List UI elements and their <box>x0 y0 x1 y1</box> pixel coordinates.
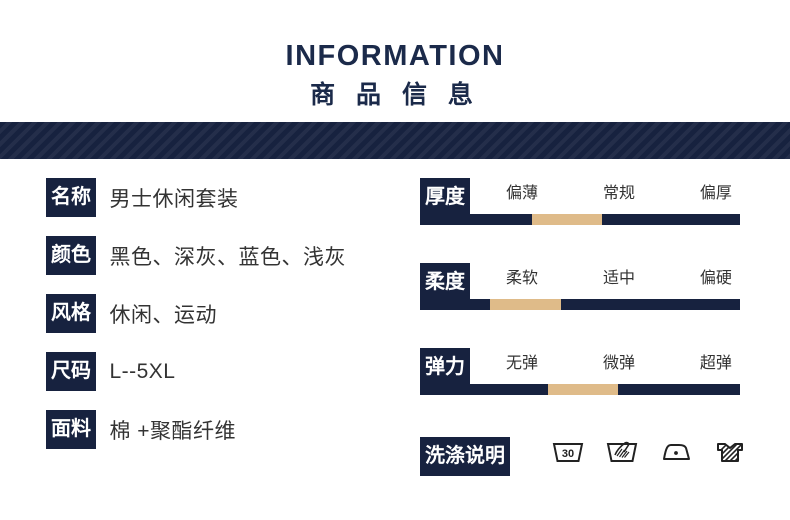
info-label-fabric: 面料 <box>46 410 96 449</box>
info-label-name: 名称 <box>46 178 96 217</box>
page-title-english: INFORMATION <box>0 40 790 72</box>
wash-care-row: 洗涤说明 30 <box>420 437 750 483</box>
info-value-style: 休闲、运动 <box>109 299 217 329</box>
scale-tick: 偏硬 <box>700 267 732 291</box>
scale-label-softness: 柔度 <box>420 263 470 302</box>
striped-divider-banner <box>0 122 790 159</box>
wash-tub-30-icon: 30 <box>552 439 584 465</box>
scale-bar-fill <box>548 384 618 395</box>
list-item: 颜色 黑色、深灰、蓝色、浅灰 <box>46 236 406 294</box>
scale-label-elasticity: 弹力 <box>420 348 470 387</box>
scale-ticks-elasticity: 无弹 微弹 超弹 <box>488 352 750 380</box>
wash-care-label: 洗涤说明 <box>420 437 510 476</box>
product-info-list: 名称 男士休闲套装 颜色 黑色、深灰、蓝色、浅灰 风格 休闲、运动 尺码 L--… <box>46 178 406 468</box>
list-item: 名称 男士休闲套装 <box>46 178 406 236</box>
scale-bar-thickness <box>420 214 740 225</box>
scale-ticks-softness: 柔软 适中 偏硬 <box>488 267 750 295</box>
scale-row-thickness: 厚度 偏薄 常规 偏厚 <box>420 178 750 263</box>
list-item: 风格 休闲、运动 <box>46 294 406 352</box>
iron-low-heat-icon <box>660 439 692 465</box>
scale-tick: 常规 <box>603 182 635 206</box>
page-title-chinese: 商 品 信 息 <box>0 80 790 110</box>
scale-tick: 适中 <box>603 267 635 291</box>
hand-wash-icon <box>606 439 638 465</box>
scale-tick: 柔软 <box>506 267 538 291</box>
do-not-bleach-garment-icon <box>714 439 746 465</box>
scale-bar-fill <box>532 214 602 225</box>
info-label-style: 风格 <box>46 294 96 333</box>
info-value-size: L--5XL <box>109 360 175 384</box>
info-value-name: 男士休闲套装 <box>109 183 238 213</box>
info-value-fabric: 棉 +聚酯纤维 <box>109 415 236 445</box>
info-label-color: 颜色 <box>46 236 96 275</box>
scale-tick: 偏薄 <box>506 182 538 206</box>
scale-bar-fill <box>490 299 560 310</box>
scale-header-softness: 柔度 柔软 适中 偏硬 <box>420 263 750 302</box>
wash-temperature-text: 30 <box>562 448 574 460</box>
scale-tick: 无弹 <box>506 352 538 376</box>
page-header: INFORMATION 商 品 信 息 <box>0 0 790 122</box>
scale-tick: 微弹 <box>603 352 635 376</box>
scale-row-elasticity: 弹力 无弹 微弹 超弹 <box>420 348 750 433</box>
list-item: 尺码 L--5XL <box>46 352 406 410</box>
info-value-color: 黑色、深灰、蓝色、浅灰 <box>109 241 346 271</box>
scale-header-thickness: 厚度 偏薄 常规 偏厚 <box>420 178 750 217</box>
wash-care-icon-group: 30 <box>552 439 746 465</box>
scale-tick: 偏厚 <box>700 182 732 206</box>
info-label-size: 尺码 <box>46 352 96 391</box>
scale-header-elasticity: 弹力 无弹 微弹 超弹 <box>420 348 750 387</box>
scale-label-thickness: 厚度 <box>420 178 470 217</box>
list-item: 面料 棉 +聚酯纤维 <box>46 410 406 468</box>
product-scale-list: 厚度 偏薄 常规 偏厚 柔度 柔软 适中 偏硬 弹力 <box>420 178 750 483</box>
scale-ticks-thickness: 偏薄 常规 偏厚 <box>488 182 750 210</box>
scale-bar-softness <box>420 299 740 310</box>
scale-row-softness: 柔度 柔软 适中 偏硬 <box>420 263 750 348</box>
scale-tick: 超弹 <box>700 352 732 376</box>
scale-bar-elasticity <box>420 384 740 395</box>
